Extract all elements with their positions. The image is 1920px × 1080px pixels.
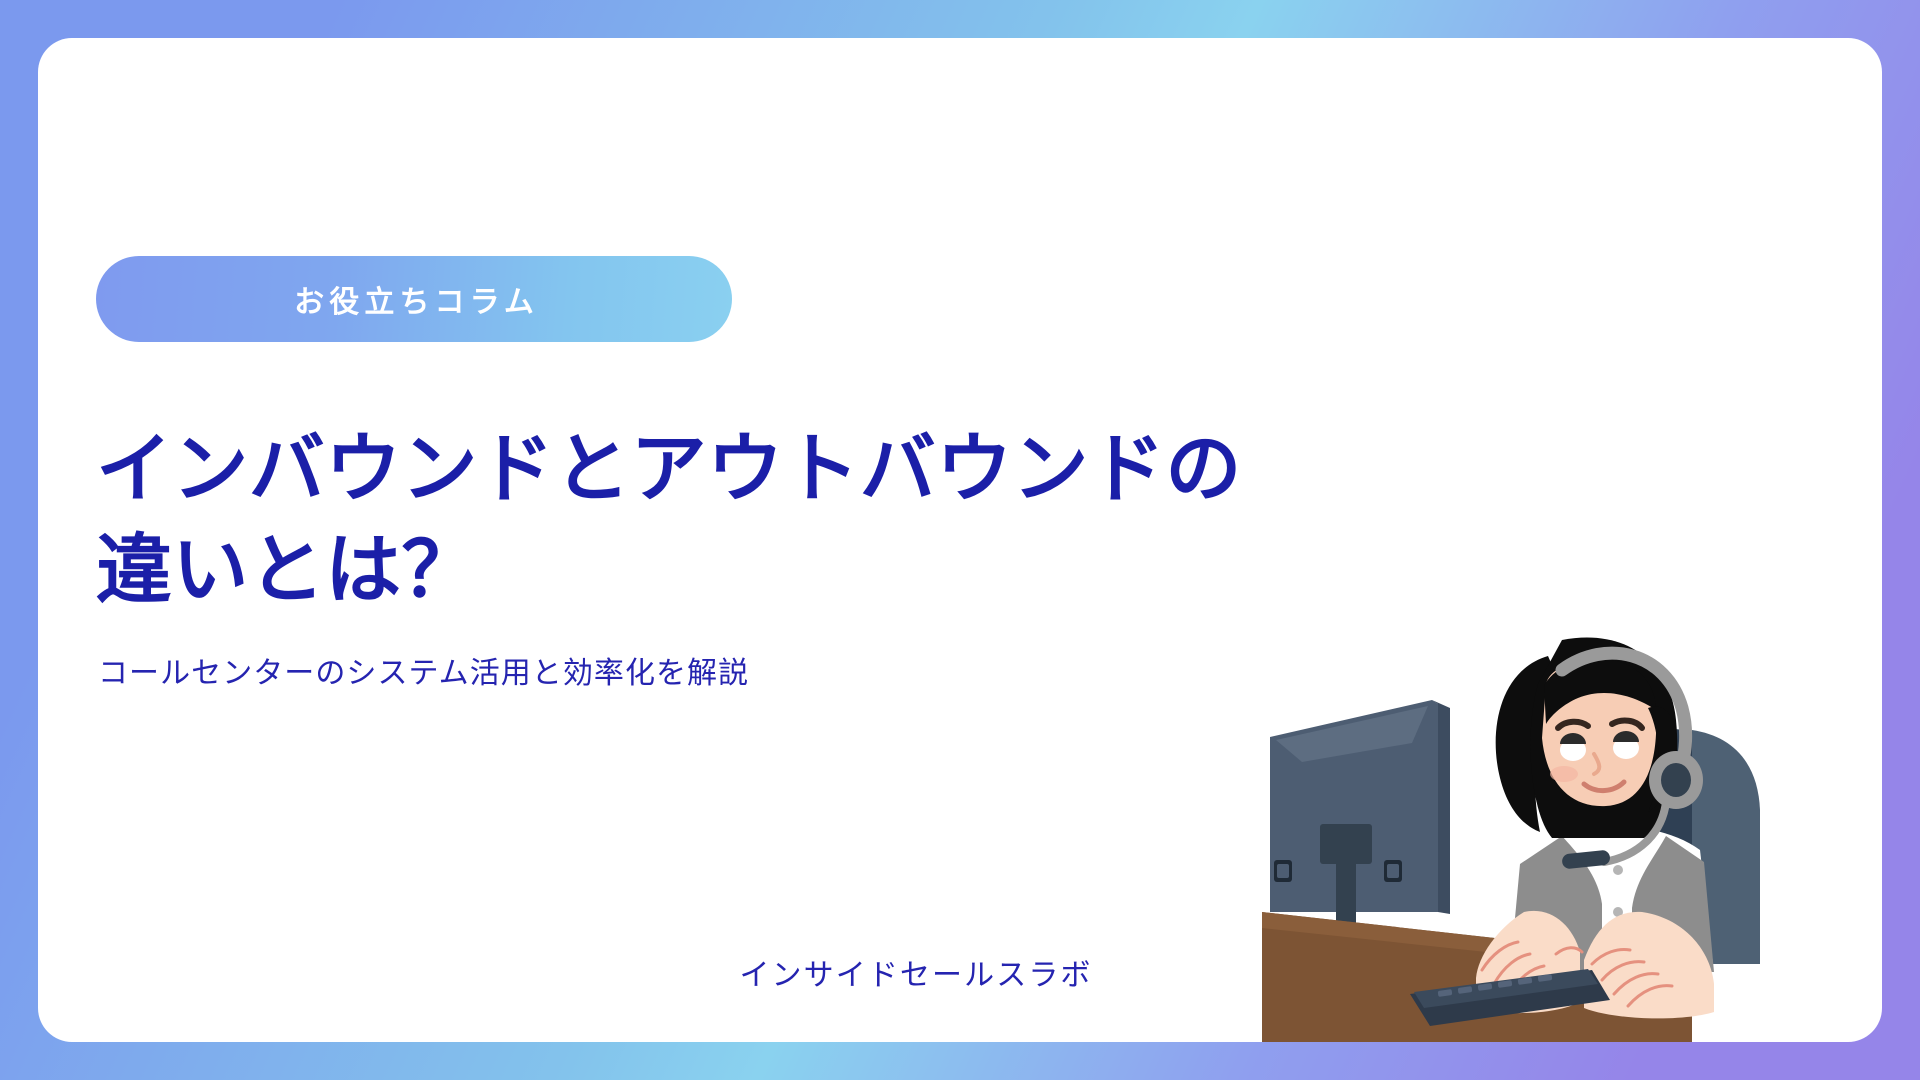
category-badge-label: お役立ちコラム [289, 277, 539, 321]
page-title: インバウンドとアウトバウンドの 違いとは？ [96, 419, 1416, 621]
category-badge: お役立ちコラム [96, 256, 732, 342]
brand-name: インサイドセールスラボ [626, 950, 1206, 994]
call-center-operator-illustration [1262, 612, 1882, 1042]
monitor-rear-view-icon [1270, 700, 1450, 914]
page-subtitle: コールセンターのシステム活用と効率化を解説 [98, 648, 749, 692]
content-card: お役立ちコラム インバウンドとアウトバウンドの 違いとは？ コールセンターのシス… [38, 38, 1882, 1042]
vest-button-icon [1613, 865, 1623, 875]
slide-background: お役立ちコラム インバウンドとアウトバウンドの 違いとは？ コールセンターのシス… [0, 0, 1920, 1080]
